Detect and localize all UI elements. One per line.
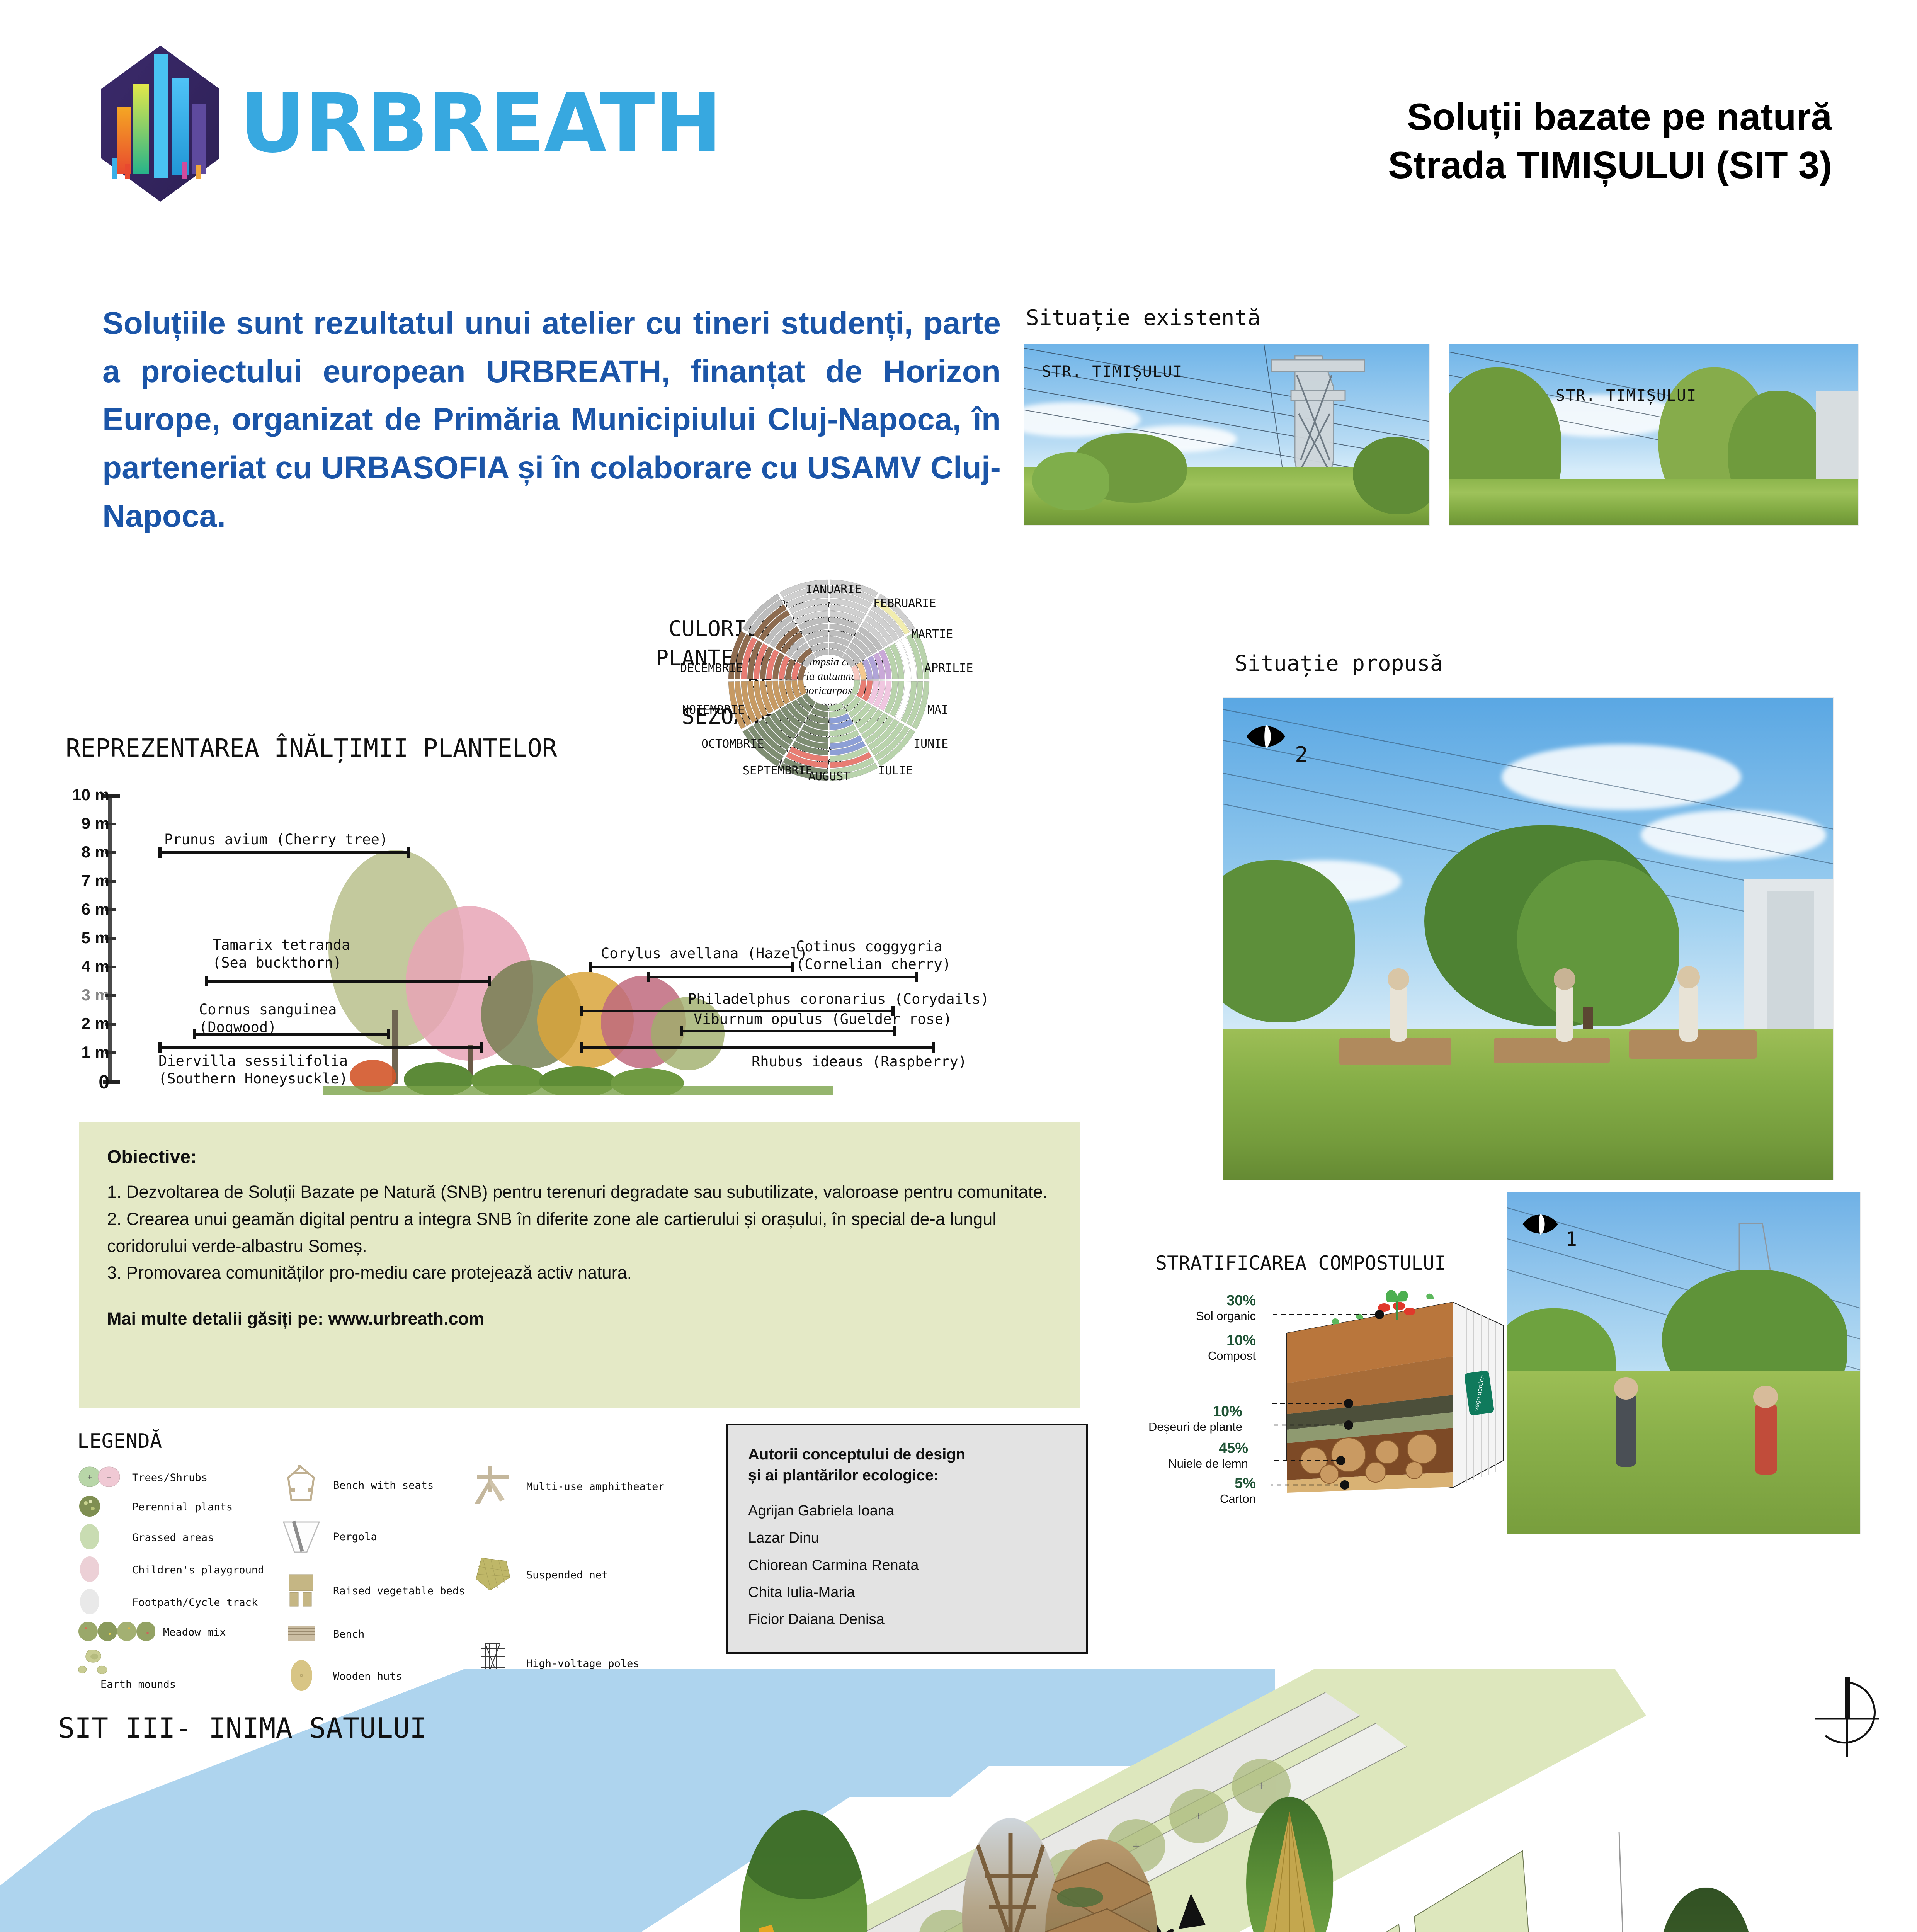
month-label-noiembrie: NOIEMBRIE [682, 703, 745, 717]
legend-item-playground: Children's playground [77, 1556, 278, 1584]
species-name: Cornus sanguinea [199, 1001, 337, 1018]
species-name: Cotinus coggygria [796, 938, 942, 955]
compost-pct: 10% [1115, 1403, 1242, 1420]
height-bar-cotinus [647, 976, 918, 978]
legend-column-1: ++ Trees/Shrubs Perennial plants Grassed… [77, 1464, 278, 1694]
site-plan-map: SIT III- INIMA SATULUI + + + + + + + + +… [0, 1669, 1917, 1932]
month-label-octombrie: OCTOMBRIE [701, 737, 764, 751]
compost-pct: 45% [1121, 1440, 1248, 1457]
legend-label: High-voltage poles [526, 1658, 640, 1670]
proposed-render-photo: 2 [1223, 697, 1834, 1180]
axis-tick-2m: 2 m [44, 1014, 109, 1033]
legend-label: Trees/Shrubs [132, 1472, 208, 1484]
height-bar-rhubus [580, 1046, 935, 1049]
height-bar-corylus [589, 966, 794, 968]
axis-tick-1m: 1 m [44, 1043, 109, 1061]
page-title: Soluții bazate pe natură Strada TIMIȘULU… [1388, 93, 1832, 190]
legend-label: Bench with seats [333, 1480, 434, 1492]
height-bar-prunus [158, 851, 410, 854]
month-label-martie: MARTIE [911, 628, 953, 641]
height-label-philadelphus: Philadelphus coronarius (Corydails) [688, 990, 989, 1008]
compost-stratification-diagram: STRATIFICAREA COMPOSTULUI vego garden [1155, 1252, 1511, 1522]
callout-photo-willow-dome [1246, 1797, 1333, 1932]
legend-label: Footpath/Cycle track [132, 1597, 258, 1609]
bench-icon [278, 1622, 325, 1646]
axis-tick-5m: 5 m [44, 929, 109, 947]
photo-caption-street: STR. TIMIȘULUI [1556, 387, 1697, 405]
legend-label: Pergola [333, 1531, 377, 1543]
height-label-cornus: Cornus sanguinea (Dogwood) [199, 1001, 337, 1037]
month-label-decembrie: DECEMBRIE [680, 662, 743, 675]
compost-layer-5: 5% Carton [1128, 1475, 1256, 1506]
objective-item-2: 2. Crearea unui geamăn digital pentru a … [107, 1206, 1052, 1260]
poster-header: URBREATH Soluții bazate pe natură Strada… [0, 0, 1917, 255]
compost-pct: 5% [1128, 1475, 1256, 1492]
height-label-corylus: Corylus avellana (Hazel) [601, 945, 808, 963]
month-label-iunie: IUNIE [913, 737, 948, 751]
authors-heading: Autorii conceptului de design și ai plan… [748, 1444, 1066, 1486]
month-label-august: AUGUST [808, 770, 850, 783]
axis-tick-9m: 9 m [44, 814, 109, 833]
callout-photo-hammock-lawn [1658, 1888, 1754, 1932]
species-name: Tamarix tetranda [213, 937, 350, 953]
legend-label: Perennial plants [132, 1501, 233, 1513]
axis-tick-8m: 8 m [44, 843, 109, 861]
photo-caption-street: STR. TIMIȘULUI [1042, 363, 1183, 381]
height-bar-tamarix [205, 980, 491, 983]
map-title: SIT III- INIMA SATULUI [58, 1712, 427, 1744]
plant-height-title: REPREZENTAREA ÎNĂLȚIMII PLANTELOR [66, 734, 557, 763]
height-label-diervilla: Diervilla sessilifolia (Southern Honeysu… [158, 1052, 348, 1088]
seasonal-colour-wheel: CULORILE PLANTELOR PE SEZOANE Prunus avi… [626, 572, 1032, 893]
meadow-swatch [77, 1621, 155, 1644]
eye-icon [1245, 721, 1287, 752]
legend-label: Meadow mix [163, 1626, 226, 1638]
axis-tick-4m: 4 m [44, 957, 109, 976]
compost-name: Deșeuri de plante [1115, 1420, 1242, 1434]
legend-item-meadow: Meadow mix [77, 1621, 278, 1644]
legend-item-suspended-net: Suspended net [468, 1555, 715, 1595]
perennial-swatch [77, 1495, 124, 1519]
month-label-ianuarie: IANUARIE [806, 583, 862, 596]
existing-photo-left: STR. TIMIȘULUI [1024, 344, 1430, 526]
existing-photo-right: STR. TIMIȘULUI [1449, 344, 1859, 526]
callout-photo-raised-beds [1045, 1839, 1157, 1932]
compost-pct: 10% [1128, 1332, 1256, 1349]
month-label-aprilie: APRILIE [924, 662, 973, 675]
legend-column-2: Bench with seats Pergola Raised vegetabl… [278, 1464, 479, 1697]
height-label-prunus: Prunus avium (Cherry tree) [164, 831, 388, 849]
grass-swatch [77, 1523, 124, 1552]
objectives-heading: Obiective: [107, 1146, 1052, 1168]
callout-photo-timber-structure [962, 1818, 1059, 1932]
legend-item-raised-beds: Raised vegetable beds [278, 1572, 479, 1609]
site-visit-photo: 1 [1507, 1192, 1861, 1534]
existing-situation-label: Situație existentă [1026, 305, 1260, 330]
more-info-url[interactable]: Mai multe detalii găsiți pe: www.urbreat… [107, 1309, 1052, 1329]
urbreath-hexagon-city-logo [97, 43, 224, 205]
authors-heading-line2: și ai plantărilor ecologice: [748, 1465, 1066, 1486]
species-common: (Sea buckthorn) [213, 954, 342, 971]
species-common: (Dogwood) [199, 1019, 276, 1036]
legend-label: Bench [333, 1628, 364, 1640]
urbreath-logo: URBREATH [97, 43, 721, 205]
playground-swatch [77, 1556, 124, 1584]
proposed-situation-label: Situație propusă [1235, 651, 1443, 676]
logo-wordmark: URBREATH [240, 83, 721, 164]
compost-name: Sol organic [1128, 1309, 1256, 1323]
month-label-februarie: FEBRUARIE [873, 597, 936, 610]
species-common: (Southern Honeysuckle) [158, 1070, 348, 1087]
compost-pct: 30% [1128, 1293, 1256, 1309]
legend-item-bench: Bench [278, 1622, 479, 1646]
legend-item-perennial: Perennial plants [77, 1495, 278, 1519]
amphitheater-icon [468, 1464, 518, 1509]
legend-item-bench-with-seats: Bench with seats [278, 1464, 479, 1507]
svg-text:+: + [1257, 1780, 1266, 1792]
height-label-viburnum: Viburnum opulus (Guelder rose) [694, 1010, 952, 1028]
legend-item-trees-shrubs: ++ Trees/Shrubs [77, 1464, 278, 1491]
legend-label: Suspended net [526, 1569, 608, 1581]
legend-label: Multi-use amphitheater [526, 1481, 665, 1493]
height-label-rhubus: Rhubus ideaus (Raspberry) [752, 1053, 967, 1071]
bench-with-seats-icon [278, 1464, 325, 1507]
objectives-box: Obiective: 1. Dezvoltarea de Soluții Baz… [79, 1122, 1080, 1408]
author-name: Agrijan Gabriela Ioana [748, 1497, 1066, 1524]
legend-column-3: Multi-use amphitheater Suspended net [468, 1464, 715, 1689]
month-label-mai: MAI [927, 703, 948, 717]
svg-text:+: + [106, 1473, 111, 1481]
legend-label: Grassed areas [132, 1532, 214, 1544]
axis-tick-6m: 6 m [44, 900, 109, 918]
author-name: Lazar Dinu [748, 1524, 1066, 1551]
axis-tick-7m: 7 m [44, 871, 109, 890]
legend-title: LEGENDĂ [77, 1430, 734, 1453]
legend-label: Children's playground [132, 1564, 264, 1576]
axis-tick-3m: 3 m [44, 986, 109, 1004]
authors-heading-line1: Autorii conceptului de design [748, 1444, 1066, 1465]
authors-box: Autorii conceptului de design și ai plan… [726, 1424, 1088, 1654]
author-name: Chita Iulia-Maria [748, 1579, 1066, 1606]
species-name: Diervilla sessilifolia [158, 1053, 348, 1069]
north-arrow-icon [1808, 1677, 1886, 1762]
eye-icon [1521, 1210, 1560, 1238]
view-number-1: 1 [1565, 1228, 1577, 1250]
compost-layer-4: 45% Nuiele de lemn [1121, 1440, 1248, 1471]
legend-item-footpath: Footpath/Cycle track [77, 1588, 278, 1617]
legend-label: Raised vegetable beds [333, 1585, 465, 1597]
footpath-swatch [77, 1588, 124, 1617]
legend-block: LEGENDĂ ++ Trees/Shrubs Perennial plants… [77, 1430, 734, 1669]
author-name: Chiorean Carmina Renata [748, 1552, 1066, 1579]
month-label-septembrie: SEPTEMBRIE [743, 764, 813, 777]
compost-title: STRATIFICAREA COMPOSTULUI [1155, 1252, 1511, 1274]
species-common: (Cornelian cherry) [796, 956, 951, 973]
tree-shrub-swatch: ++ [77, 1464, 124, 1491]
suspended-net-icon [468, 1555, 518, 1595]
compost-name: Nuiele de lemn [1121, 1457, 1248, 1471]
height-label-cotinus: Cotinus coggygria (Cornelian cherry) [796, 938, 951, 974]
axis-tick-10m: 10 m [44, 786, 109, 804]
callout-photo-playground [740, 1810, 867, 1932]
height-bar-viburnum [680, 1030, 896, 1032]
svg-text:+: + [1194, 1810, 1203, 1822]
legend-item-grassed: Grassed areas [77, 1523, 278, 1552]
height-label-tamarix: Tamarix tetranda (Sea buckthorn) [213, 936, 350, 972]
axis-tick-0: 0 [44, 1071, 109, 1093]
legend-item-amphitheater: Multi-use amphitheater [468, 1464, 715, 1509]
view-number-2: 2 [1295, 742, 1308, 767]
legend-item-pergola: Pergola [278, 1517, 479, 1557]
svg-text:+: + [87, 1473, 92, 1481]
compost-layer-3: 10% Deșeuri de plante [1115, 1403, 1242, 1434]
objective-item-3: 3. Promovarea comunităților pro-mediu ca… [107, 1259, 1052, 1286]
objective-item-1: 1. Dezvoltarea de Soluții Bazate pe Natu… [107, 1179, 1052, 1206]
compost-name: Compost [1128, 1349, 1256, 1363]
height-bar-diervilla [158, 1046, 483, 1049]
compost-name: Carton [1128, 1492, 1256, 1506]
author-name: Ficior Daiana Denisa [748, 1606, 1066, 1633]
pergola-icon [278, 1517, 325, 1557]
compost-layer-2: 10% Compost [1128, 1332, 1256, 1363]
title-line-1: Soluții bazate pe natură [1388, 93, 1832, 141]
title-line-2: Strada TIMIȘULUI (SIT 3) [1388, 141, 1832, 189]
intro-paragraph: Soluțiile sunt rezultatul unui atelier c… [102, 299, 1001, 540]
compost-layer-1: 30% Sol organic [1128, 1293, 1256, 1323]
month-label-iulie: IULIE [878, 764, 913, 777]
raised-bed-icon [278, 1572, 325, 1609]
